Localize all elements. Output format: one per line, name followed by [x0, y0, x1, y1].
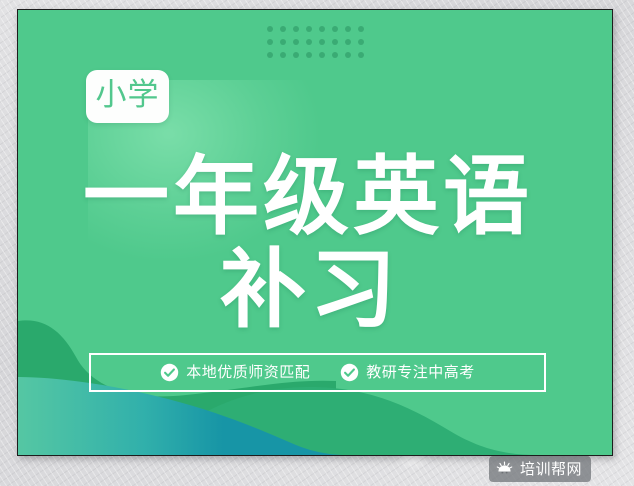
- grid-dot: [267, 26, 273, 32]
- mid-green-wave: [168, 387, 613, 455]
- check-circle-icon: [160, 363, 179, 382]
- grid-dot: [345, 39, 351, 45]
- grid-dot: [358, 26, 364, 32]
- grid-dot: [358, 39, 364, 45]
- grid-dot: [332, 26, 338, 32]
- grid-dot: [306, 39, 312, 45]
- grid-dot: [293, 39, 299, 45]
- grid-dot: [332, 39, 338, 45]
- feature-label-0: 本地优质师资匹配: [186, 365, 310, 380]
- dot-grid-decoration: [267, 26, 371, 65]
- grid-dot: [319, 52, 325, 58]
- level-tag: 小学: [86, 70, 169, 123]
- grid-dot: [267, 52, 273, 58]
- feature-item-0: 本地优质师资匹配: [160, 363, 310, 382]
- headline-line-1: 一年级英语: [17, 149, 606, 245]
- feature-bar: 本地优质师资匹配 教研专注中高考: [89, 353, 546, 392]
- grid-dot: [345, 52, 351, 58]
- site-watermark: 培训帮网: [489, 456, 591, 482]
- headline-line-2: 补习: [17, 245, 608, 335]
- grid-dot: [332, 52, 338, 58]
- watermark-text: 培训帮网: [520, 462, 582, 477]
- feature-label-1: 教研专注中高考: [366, 365, 475, 380]
- grid-dot: [345, 26, 351, 32]
- grid-dot: [319, 26, 325, 32]
- sun-face-icon: [496, 461, 513, 478]
- grid-dot: [267, 39, 273, 45]
- grid-dot: [306, 26, 312, 32]
- poster-stage: 小学 一年级英语 补习 本地优质师资匹配 教研专注中高考: [0, 0, 634, 486]
- grid-dot: [306, 52, 312, 58]
- course-poster-card: 小学 一年级英语 补习 本地优质师资匹配 教研专注中高考: [17, 9, 613, 456]
- grid-dot: [280, 52, 286, 58]
- feature-item-1: 教研专注中高考: [340, 363, 475, 382]
- level-tag-label: 小学: [96, 80, 160, 111]
- check-circle-icon: [340, 363, 359, 382]
- grid-dot: [280, 26, 286, 32]
- grid-dot: [319, 39, 325, 45]
- grid-dot: [358, 52, 364, 58]
- grid-dot: [293, 52, 299, 58]
- grid-dot: [293, 26, 299, 32]
- grid-dot: [280, 39, 286, 45]
- poster-headline: 一年级英语 补习: [18, 149, 613, 335]
